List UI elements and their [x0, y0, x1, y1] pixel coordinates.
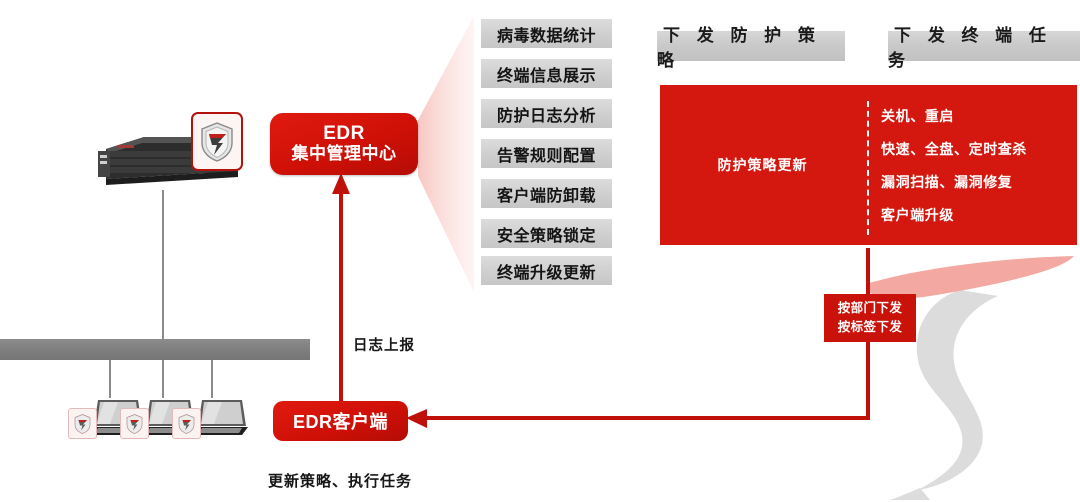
- task-label: 客户端升级: [881, 207, 954, 223]
- laptop-shield-badge: [68, 408, 97, 439]
- header-chip-task: 下 发 终 端 任 务: [888, 31, 1080, 61]
- feature-label: 客户端防卸载: [497, 182, 596, 206]
- policy-update-label: 防护策略更新: [660, 85, 865, 245]
- feature-item-0[interactable]: 病毒数据统计: [481, 19, 612, 48]
- task-list: 关机、重启 快速、全盘、定时查杀 漏洞扫描、漏洞修复 客户端升级: [875, 85, 1071, 245]
- feature-item-2[interactable]: 防护日志分析: [481, 99, 612, 128]
- edr-center-subtitle: 集中管理中心: [292, 144, 397, 164]
- dispatch-red-panel: 防护策略更新 关机、重启 快速、全盘、定时查杀 漏洞扫描、漏洞修复 客户端升级: [657, 82, 1080, 248]
- dispatch-mode-label: 按部门下发 按标签下发: [824, 294, 916, 342]
- edr-management-center-node[interactable]: EDR 集中管理中心: [270, 113, 418, 175]
- feature-label: 终端升级更新: [497, 259, 596, 283]
- shield-logo-icon: [74, 414, 91, 434]
- edr-client-node[interactable]: EDR客户端: [273, 401, 408, 441]
- feature-item-4[interactable]: 客户端防卸载: [481, 179, 612, 208]
- bottom-caption-text: 更新策略、执行任务: [268, 473, 412, 490]
- feature-label: 病毒数据统计: [497, 22, 596, 46]
- feature-item-3[interactable]: 告警规则配置: [481, 139, 612, 168]
- log-report-label: 日志上报: [353, 334, 415, 355]
- feature-label: 终端信息展示: [497, 62, 596, 86]
- network-switch-bar: [0, 339, 310, 360]
- diagram-canvas: EDR 集中管理中心 病毒数据统计 终端信息展示 防护日志分析 告警规则配置 客…: [0, 0, 1080, 502]
- task-label: 漏洞扫描、漏洞修复: [881, 174, 1012, 190]
- header-chip-policy: 下 发 防 护 策 略: [657, 31, 845, 61]
- header-chip-policy-label: 下 发 防 护 策 略: [657, 21, 845, 71]
- laptop-shield-badge: [172, 408, 201, 439]
- bottom-caption: 更新策略、执行任务: [268, 470, 412, 491]
- shield-logo-badge: [191, 112, 243, 171]
- shield-logo-icon: [178, 414, 195, 434]
- shield-logo-icon: [126, 414, 143, 434]
- feature-item-6[interactable]: 终端升级更新: [481, 256, 612, 285]
- edr-client-label: EDR客户端: [293, 408, 388, 434]
- edr-center-title: EDR: [323, 124, 365, 144]
- feature-item-5[interactable]: 安全策略锁定: [481, 219, 612, 248]
- panel-divider: [867, 101, 869, 235]
- feature-label: 安全策略锁定: [497, 222, 596, 246]
- log-report-text: 日志上报: [353, 338, 415, 354]
- shield-logo-icon: [200, 122, 234, 162]
- task-item-3: 客户端升级: [881, 205, 1071, 225]
- task-label: 快速、全盘、定时查杀: [881, 141, 1027, 157]
- header-chip-task-label: 下 发 终 端 任 务: [888, 21, 1080, 71]
- feature-item-1[interactable]: 终端信息展示: [481, 59, 612, 88]
- laptop-shield-badge: [120, 408, 149, 439]
- dispatch-line-2: 按标签下发: [838, 318, 903, 337]
- task-item-2: 漏洞扫描、漏洞修复: [881, 172, 1071, 192]
- task-item-1: 快速、全盘、定时查杀: [881, 139, 1071, 159]
- dispatch-line-1: 按部门下发: [838, 299, 903, 318]
- feature-label: 告警规则配置: [497, 142, 596, 166]
- task-item-0: 关机、重启: [881, 106, 1071, 126]
- feature-label: 防护日志分析: [497, 102, 596, 126]
- task-label: 关机、重启: [881, 108, 954, 124]
- policy-update-text: 防护策略更新: [718, 155, 808, 175]
